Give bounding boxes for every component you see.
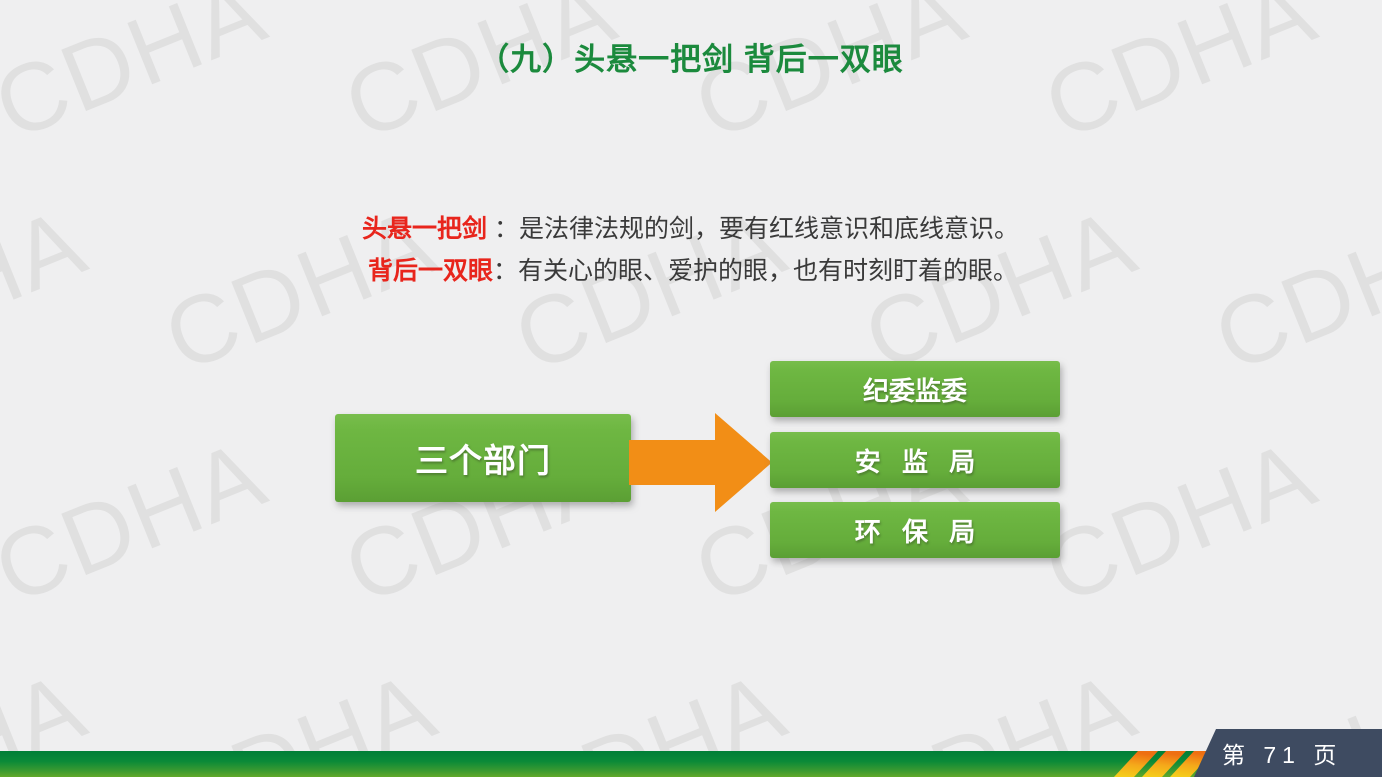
body-line-1: 头悬一把剑 ：是法律法规的剑，要有红线意识和底线意识。 [362,208,1019,250]
diagram-source-box[interactable]: 三个部门 [335,414,631,502]
diagram-target-box-3-label: 环 保 局 [848,512,982,549]
body-line-2: 背后一双眼：有关心的眼、爱护的眼，也有时刻盯着的眼。 [362,250,1019,292]
diagram-target-box-2-label: 安 监 局 [848,442,982,479]
diagram-target-box-1-label: 纪委监委 [863,371,967,408]
page-title: （九）头悬一把剑 背后一双眼 [0,34,1382,79]
orange-right-arrow-icon [629,412,773,513]
body-line-1-lead: 头悬一把剑 [362,215,494,243]
body-text-block: 头悬一把剑 ：是法律法规的剑，要有红线意识和底线意识。 背后一双眼：有关心的眼、… [362,208,1019,292]
body-line-2-rest: ：有关心的眼、爱护的眼，也有时刻盯着的眼。 [493,257,1018,285]
diagram-target-box-1[interactable]: 纪委监委 [770,361,1060,417]
slide-footer: 第 71 页 [0,751,1382,777]
body-line-1-rest: ：是法律法规的剑，要有红线意识和底线意识。 [494,215,1019,243]
diagram-target-box-3[interactable]: 环 保 局 [770,502,1060,558]
page-number-label: 第 71 页 [1222,733,1362,773]
diagram-target-box-2[interactable]: 安 监 局 [770,432,1060,488]
process-diagram: 三个部门 纪委监委 安 监 局 环 保 局 [0,0,1382,777]
slide-canvas: CDHACDHACDHACDHACDHACDHACDHACDHACDHACDHA… [0,0,1382,777]
diagram-source-box-label: 三个部门 [415,434,551,482]
body-line-2-lead: 背后一双眼 [368,257,493,285]
